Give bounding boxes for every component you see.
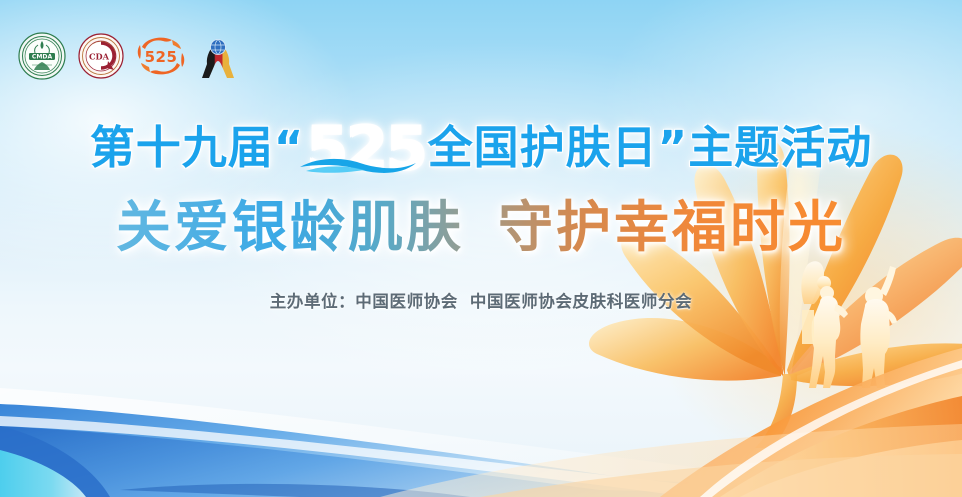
skin-care-day-525-logo[interactable]: 525 (136, 33, 186, 79)
title-525-text: 525 (306, 114, 425, 184)
organizer-name-1: 中国医师协会 (355, 292, 458, 311)
title-quote-close: ” (658, 121, 689, 174)
organizer-logos: CMDA CDA (18, 32, 238, 80)
organizer-name-2: 中国医师协会皮肤科医师分会 (470, 292, 692, 311)
svg-text:CMDA: CMDA (32, 54, 53, 61)
cmda-logo[interactable]: CMDA (18, 32, 66, 80)
poster-canvas: CMDA CDA (0, 0, 962, 497)
title-prefix: 第十九届 (90, 121, 274, 174)
cda-logo[interactable]: CDA (78, 33, 124, 79)
subtitle-right: 守护幸福时光 (498, 194, 846, 259)
title-suffix: 主题活动 (688, 121, 872, 174)
awareness-ribbon-logo[interactable] (198, 32, 238, 80)
page-subtitle: 关爱银龄肌肤守护幸福时光 (0, 195, 962, 258)
page-title: 第十九届“525 全国护肤日”主题活动 (0, 119, 962, 179)
title-middle: 全国护肤日 (428, 121, 658, 174)
title-quote-open: “ (274, 121, 305, 174)
subtitle-left: 关爱银龄肌肤 (116, 194, 464, 259)
svg-text:525: 525 (145, 48, 178, 66)
svg-text:CDA: CDA (89, 52, 110, 62)
title-525-highlight: 525 (304, 119, 427, 179)
organizer-line: 主办单位：中国医师协会中国医师协会皮肤科医师分会 (0, 288, 962, 312)
ribbon-waves-decoration (0, 330, 962, 497)
organizer-label: 主办单位： (270, 292, 356, 311)
